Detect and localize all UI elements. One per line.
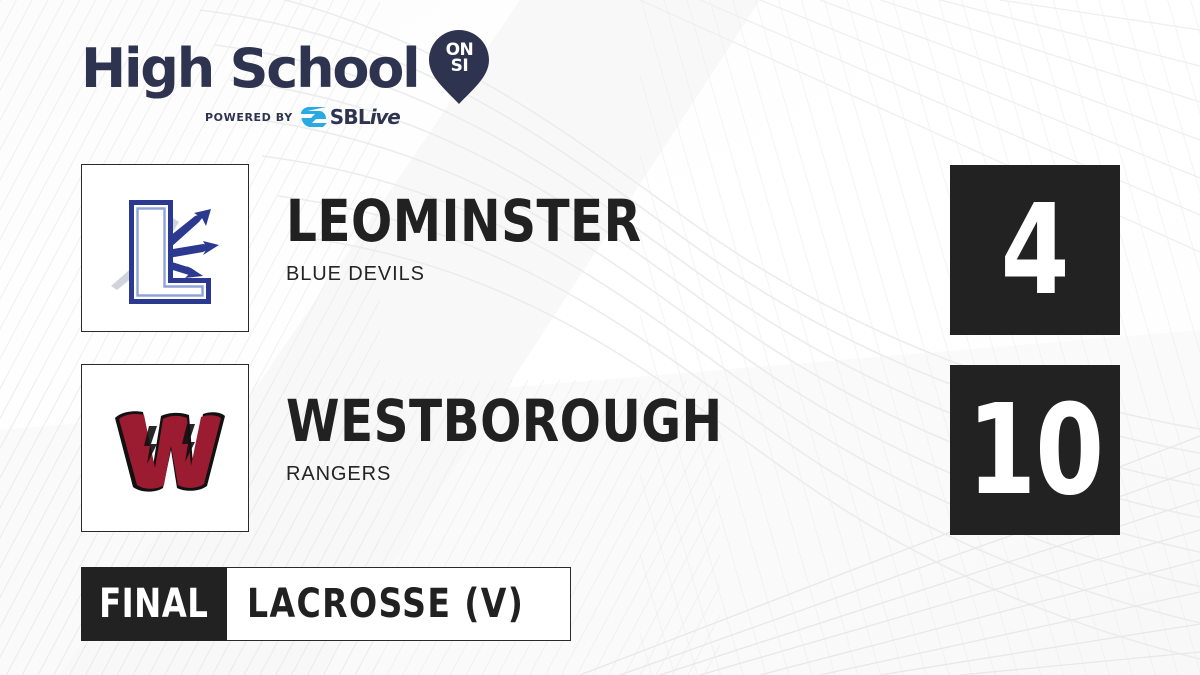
game-status-bar: FINAL LACROSSE (V) [81, 567, 571, 641]
team-score-box: 10 [950, 365, 1120, 535]
team-identity: WESTBOROUGH RANGERS [286, 392, 755, 486]
status-badge: FINAL [81, 567, 227, 641]
westborough-rangers-logo [99, 382, 231, 514]
team-mascot: RANGERS [286, 463, 755, 486]
team-logo-tile [81, 364, 249, 532]
powered-by-lockup: POWERED BY SBLive [205, 106, 511, 128]
team-name: WESTBOROUGH [286, 392, 723, 450]
leominster-blue-devils-logo [99, 182, 231, 314]
team-score-box: 4 [950, 165, 1120, 335]
sblive-wordmark: SBLive [330, 107, 400, 127]
pin-label-si: SI [428, 58, 490, 74]
sblive-s-icon [301, 106, 327, 128]
scoreboard-graphic: High School ON SI POWERED BY SBLive [0, 0, 1200, 675]
team-row: WESTBOROUGH RANGERS 10 [81, 364, 1120, 535]
team-score: 10 [967, 388, 1103, 513]
team-logo-tile [81, 164, 249, 332]
team-score: 4 [1001, 188, 1069, 313]
map-pin-icon: ON SI [428, 30, 490, 104]
team-row: LEOMINSTER BLUE DEVILS 4 [81, 164, 1120, 335]
brand-wordmark: High School [81, 40, 418, 98]
team-identity: LEOMINSTER BLUE DEVILS [286, 192, 668, 286]
brand-logo: High School ON SI POWERED BY SBLive [81, 38, 511, 133]
team-mascot: BLUE DEVILS [286, 263, 668, 286]
powered-by-label: POWERED BY [205, 111, 293, 124]
sport-label: LACROSSE (V) [227, 567, 571, 641]
team-name: LEOMINSTER [286, 192, 642, 250]
